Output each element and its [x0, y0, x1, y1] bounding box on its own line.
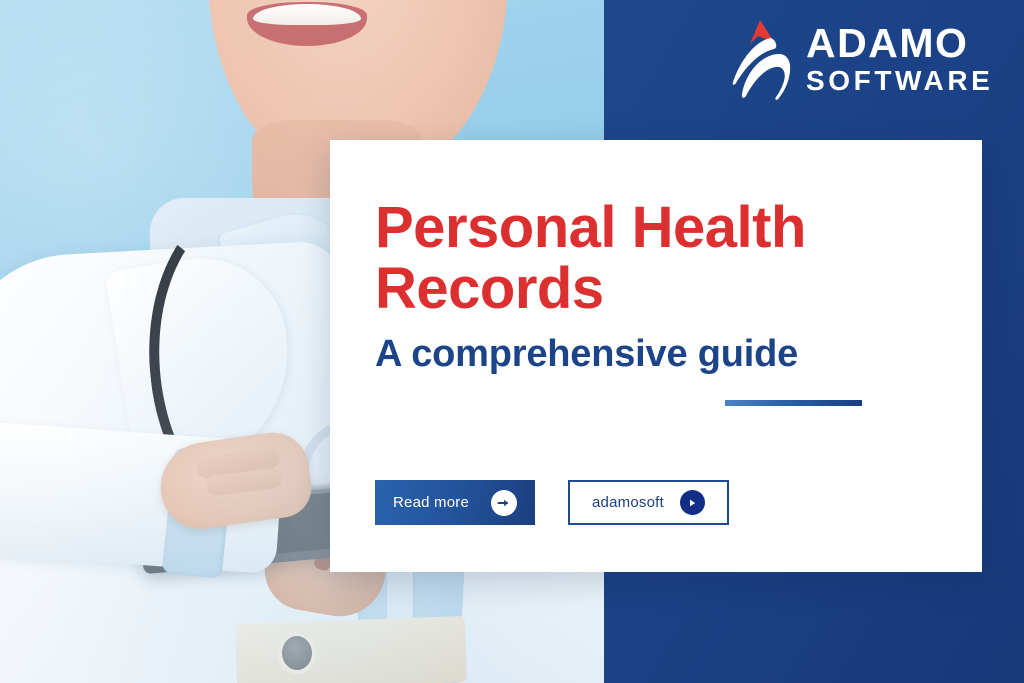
cta-button-row: Read more adamosoft: [375, 480, 729, 525]
adamo-logo[interactable]: ADAMO SOFTWARE: [730, 18, 993, 100]
play-circle-icon: [680, 490, 705, 515]
page-title: Personal Health Records: [375, 198, 946, 320]
teeth-shape: [253, 4, 361, 25]
page-subtitle: A comprehensive guide: [375, 334, 946, 376]
card-text-block: Personal Health Records A comprehensive …: [375, 198, 946, 376]
accent-underline: [725, 400, 862, 406]
adamosoft-label: adamosoft: [592, 494, 664, 511]
logo-name-primary: ADAMO: [806, 23, 993, 64]
trouser-waistband: [235, 616, 467, 683]
read-more-label: Read more: [393, 494, 469, 511]
adamo-arrow-mark-icon: [730, 18, 792, 100]
content-card: Personal Health Records A comprehensive …: [330, 140, 982, 572]
promo-banner: ADAMO SOFTWARE Personal Health Records A…: [0, 0, 1024, 683]
logo-wordmark: ADAMO SOFTWARE: [806, 23, 993, 95]
read-more-button[interactable]: Read more: [375, 480, 535, 525]
adamosoft-button[interactable]: adamosoft: [568, 480, 729, 525]
arrow-right-circle-icon: [491, 490, 517, 516]
logo-name-secondary: SOFTWARE: [806, 67, 993, 95]
